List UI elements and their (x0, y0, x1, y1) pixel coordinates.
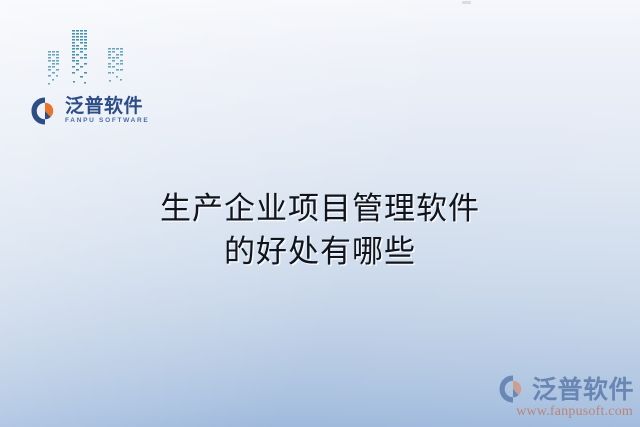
headline-line-1: 生产企业项目管理软件 (0, 188, 640, 231)
watermark: 泛普软件 www.fanpusoft.com (498, 374, 634, 419)
brand-logo-lockup: 泛普软件 FANPU SOFTWARE (30, 96, 149, 126)
watermark-logo-row: 泛普软件 (498, 374, 634, 404)
top-edge-artifact (462, 1, 471, 4)
brand-block: 泛普软件 FANPU SOFTWARE (26, 24, 176, 136)
fanpu-swoosh-logo-icon (498, 374, 528, 404)
fanpu-swoosh-logo-icon (30, 96, 60, 126)
pixel-city-skyline-icon (46, 24, 148, 92)
brand-name-cn: 泛普软件 (65, 97, 149, 116)
brand-wordmark: 泛普软件 FANPU SOFTWARE (65, 97, 149, 125)
watermark-name-cn: 泛普软件 (532, 377, 634, 402)
headline-line-2: 的好处有哪些 (0, 231, 640, 274)
promo-banner: 泛普软件 FANPU SOFTWARE 生产企业项目管理软件 的好处有哪些 泛普… (0, 0, 640, 427)
watermark-url: www.fanpusoft.com (516, 405, 633, 419)
headline: 生产企业项目管理软件 的好处有哪些 (0, 188, 640, 274)
brand-name-en: FANPU SOFTWARE (65, 118, 149, 125)
